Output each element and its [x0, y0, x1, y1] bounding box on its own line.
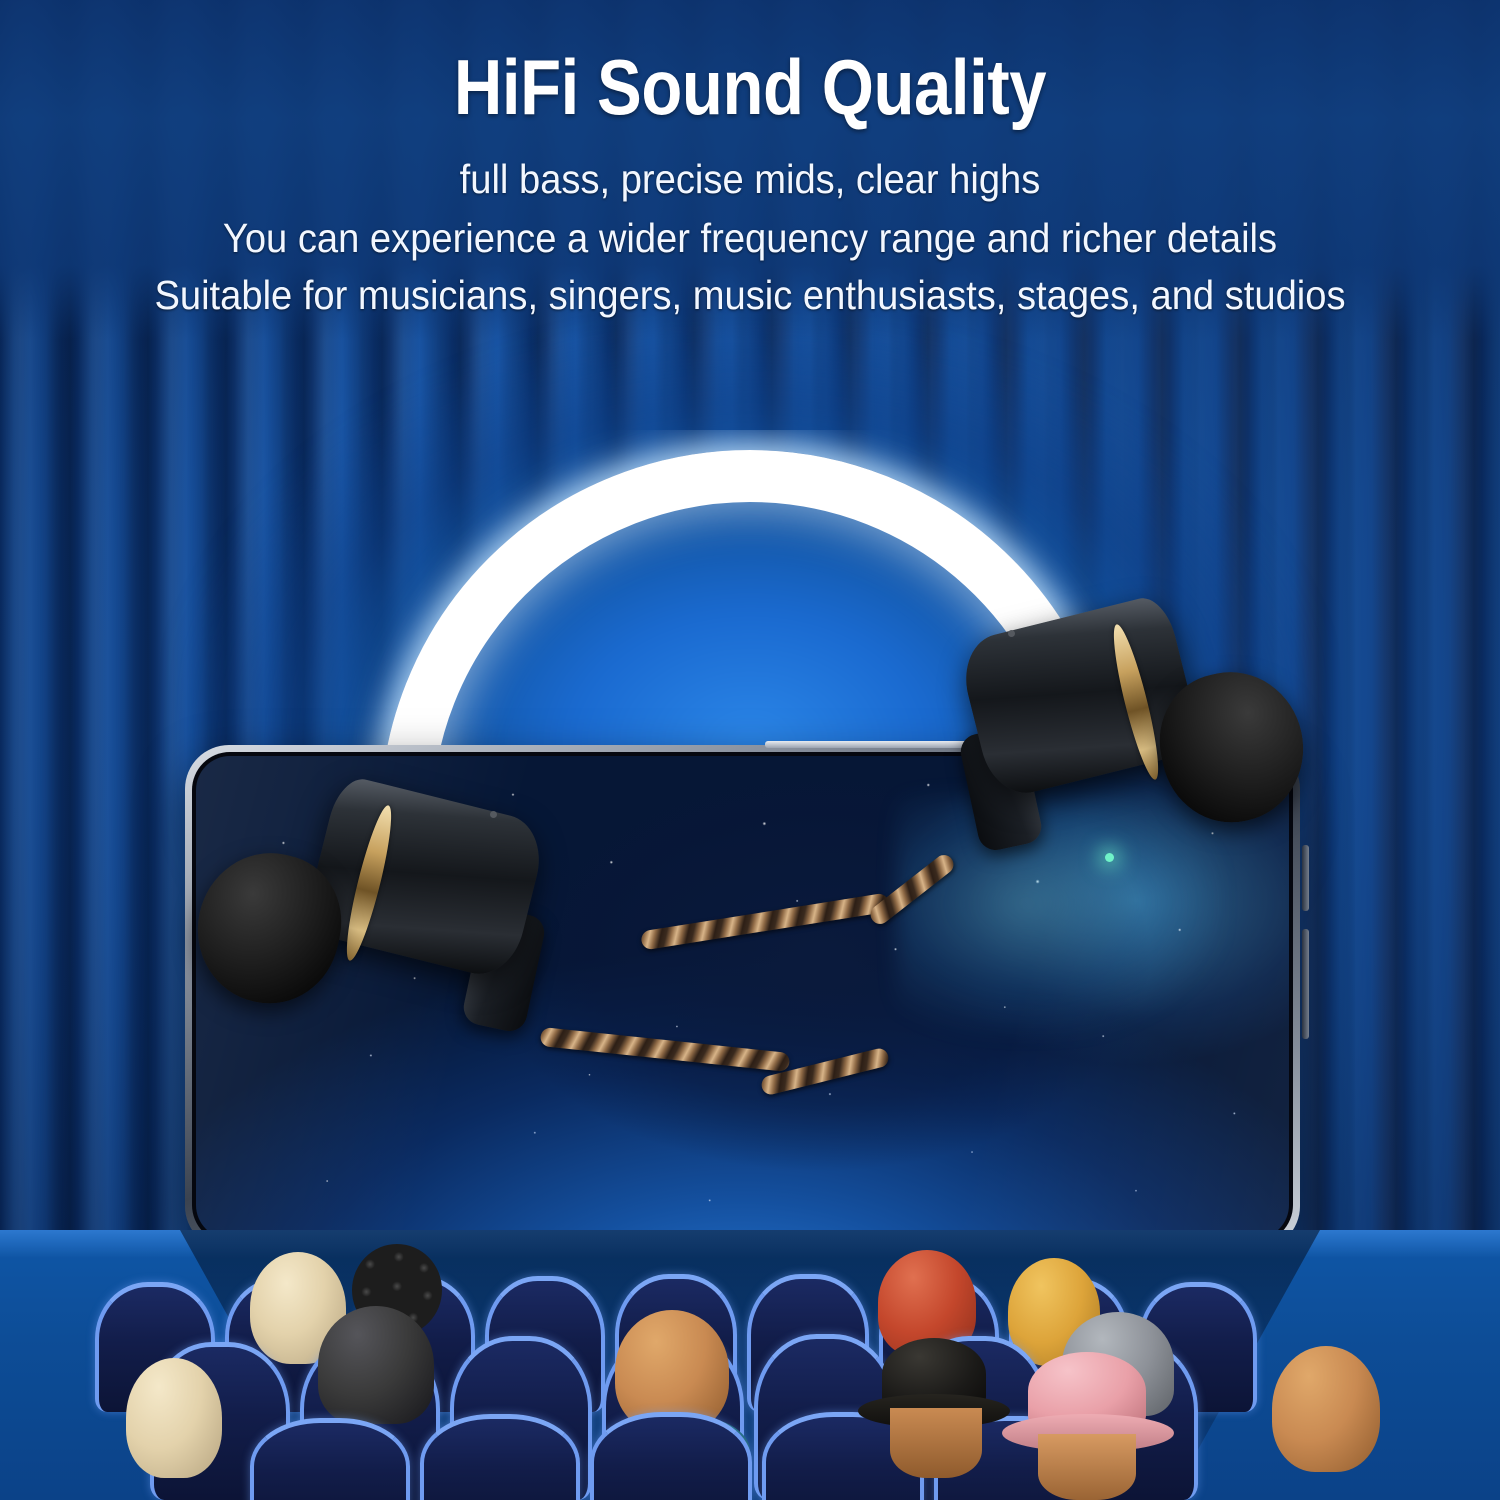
seat	[420, 1414, 580, 1500]
earbud-right-vent-hole	[1008, 630, 1015, 637]
earbud-left-housing	[302, 773, 550, 982]
phone-volume-down-button	[1302, 929, 1309, 1039]
person-black-hat-face	[890, 1408, 982, 1478]
product-marketing-image: HiFi Sound Quality full bass, precise mi…	[0, 0, 1500, 1500]
person-pink-hat-face	[1038, 1434, 1136, 1500]
seat	[250, 1418, 410, 1500]
seat	[590, 1412, 752, 1500]
earbud-left	[190, 775, 610, 1095]
earbud-left-vent-hole	[490, 811, 497, 818]
person-right-edge	[1272, 1346, 1380, 1472]
subtitle-line-2: You can experience a wider frequency ran…	[53, 215, 1448, 262]
earbud-right	[905, 598, 1305, 918]
person-left-edge	[126, 1358, 222, 1478]
subtitle-line-1: full bass, precise mids, clear highs	[53, 156, 1448, 203]
subtitle-line-3: Suitable for musicians, singers, music e…	[53, 272, 1448, 319]
banner-header: HiFi Sound Quality full bass, precise mi…	[0, 0, 1500, 340]
person-dark-cap	[318, 1306, 434, 1424]
page-title: HiFi Sound Quality	[105, 48, 1395, 126]
cinema-audience	[0, 1230, 1500, 1500]
